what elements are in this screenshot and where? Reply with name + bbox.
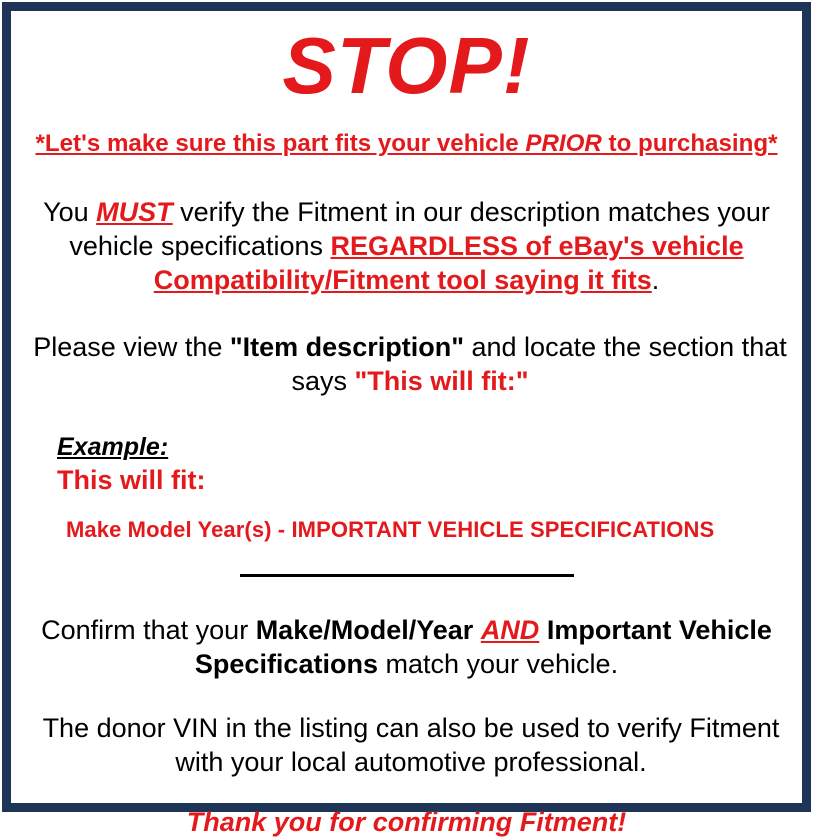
please-view-paragraph: Please view the "Item description" and l…: [25, 297, 795, 398]
confirm-space-1: [473, 615, 481, 645]
notice-frame: STOP! *Let's make sure this part fits yo…: [2, 2, 811, 812]
divider-wrap: [25, 544, 788, 585]
thank-you-line: Thank you for confirming Fitment!: [25, 779, 788, 839]
confirm-space-2: [539, 615, 547, 645]
example-label: Example:: [57, 432, 168, 462]
example-this-will-fit: This will fit:: [57, 462, 788, 496]
donor-vin-paragraph: The donor VIN in the listing can also be…: [25, 681, 797, 779]
subtitle-text-before: *Let's make sure this part fits your veh…: [35, 130, 525, 157]
confirm-seg-tail: match your vehicle.: [378, 649, 618, 679]
must-seg-lead: You: [43, 197, 96, 227]
horizontal-rule-divider: [240, 574, 574, 577]
example-block: Example: This will fit: Make Model Year(…: [25, 398, 788, 544]
this-will-fit-emphasis: "This will fit:": [354, 366, 528, 396]
please-seg-lead: Please view the: [33, 332, 230, 362]
item-description-emphasis: "Item description": [230, 332, 464, 362]
must-seg-period: .: [652, 265, 660, 295]
make-model-year-emphasis: Make/Model/Year: [256, 615, 474, 645]
confirm-seg-lead: Confirm that your: [41, 615, 256, 645]
subtitle-line: *Let's make sure this part fits your veh…: [31, 113, 783, 159]
notice-body: STOP! *Let's make sure this part fits yo…: [11, 11, 802, 803]
example-spec-line: Make Model Year(s) - IMPORTANT VEHICLE S…: [57, 496, 788, 544]
stop-heading: STOP!: [25, 11, 788, 113]
subtitle-emphasis-prior: PRIOR: [525, 130, 601, 157]
and-emphasis: AND: [481, 615, 540, 645]
must-verify-paragraph: You MUST verify the Fitment in our descr…: [27, 159, 787, 297]
subtitle-text-after: to purchasing*: [602, 130, 778, 157]
must-emphasis: MUST: [96, 197, 173, 227]
confirm-paragraph: Confirm that your Make/Model/Year AND Im…: [31, 585, 783, 681]
